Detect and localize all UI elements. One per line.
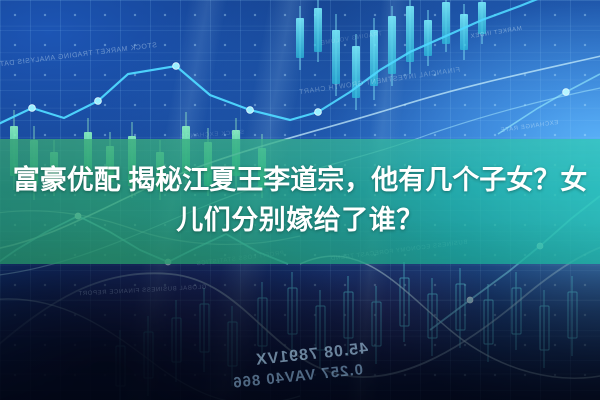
headline-text: 富豪优配 揭秘江夏王李道宗，他有几个子女？女 儿们分别嫁给了谁？: [0, 160, 600, 240]
headline-line-2: 儿们分别嫁给了谁？: [8, 200, 592, 240]
headline-line-1: 富豪优配 揭秘江夏王李道宗，他有几个子女？女: [8, 160, 592, 200]
banner-image: STOCK MARKET TRADING ANALYSIS DATA FINAN…: [0, 0, 600, 400]
